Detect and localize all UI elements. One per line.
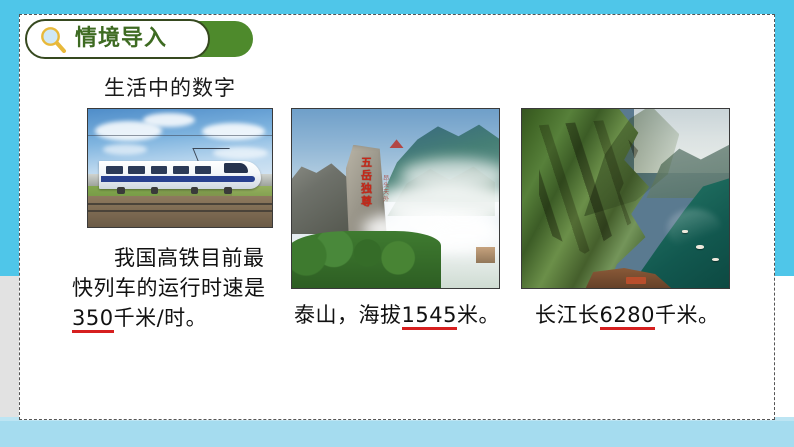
caption-text-before: 泰山，海拔	[294, 303, 402, 327]
photo-mount-tai: 五岳独尊 昂头天外	[291, 108, 500, 289]
frame-band-right	[775, 0, 794, 276]
caption-number-6280: 6280	[600, 303, 655, 330]
caption-text-after: 米。	[457, 303, 500, 327]
slide-canvas: 情境导入 生活中的数字	[0, 0, 794, 447]
stele-inscription: 五岳独尊	[356, 156, 377, 208]
caption-number-1545: 1545	[402, 303, 457, 330]
caption-text-after: 千米。	[655, 303, 720, 327]
magnifier-icon	[39, 26, 67, 53]
frame-band-top	[0, 0, 794, 14]
caption-text-before: 长江长	[535, 303, 600, 327]
page-title: 生活中的数字	[104, 72, 236, 102]
section-badge-label: 情境导入	[75, 23, 205, 55]
caption-mount-tai: 泰山，海拔1545米。	[294, 300, 514, 330]
stele-side-inscription: 昂头天外	[381, 175, 391, 203]
caption-text-after: 千米/时。	[114, 306, 208, 330]
frame-band-bottom	[0, 421, 794, 447]
frame-band-left	[0, 0, 19, 276]
section-badge[interactable]: 情境导入	[25, 19, 255, 59]
caption-number-350: 350	[72, 306, 114, 333]
photo-yangtze-gorge	[521, 108, 730, 289]
caption-high-speed-train: 我国高铁目前最快列车的运行时速是350千米/时。	[72, 243, 277, 333]
caption-yangtze-river: 长江长6280千米。	[535, 300, 755, 330]
caption-text-before: 我国高铁目前最快列车的运行时速是	[72, 246, 266, 300]
photo-high-speed-train	[87, 108, 273, 228]
